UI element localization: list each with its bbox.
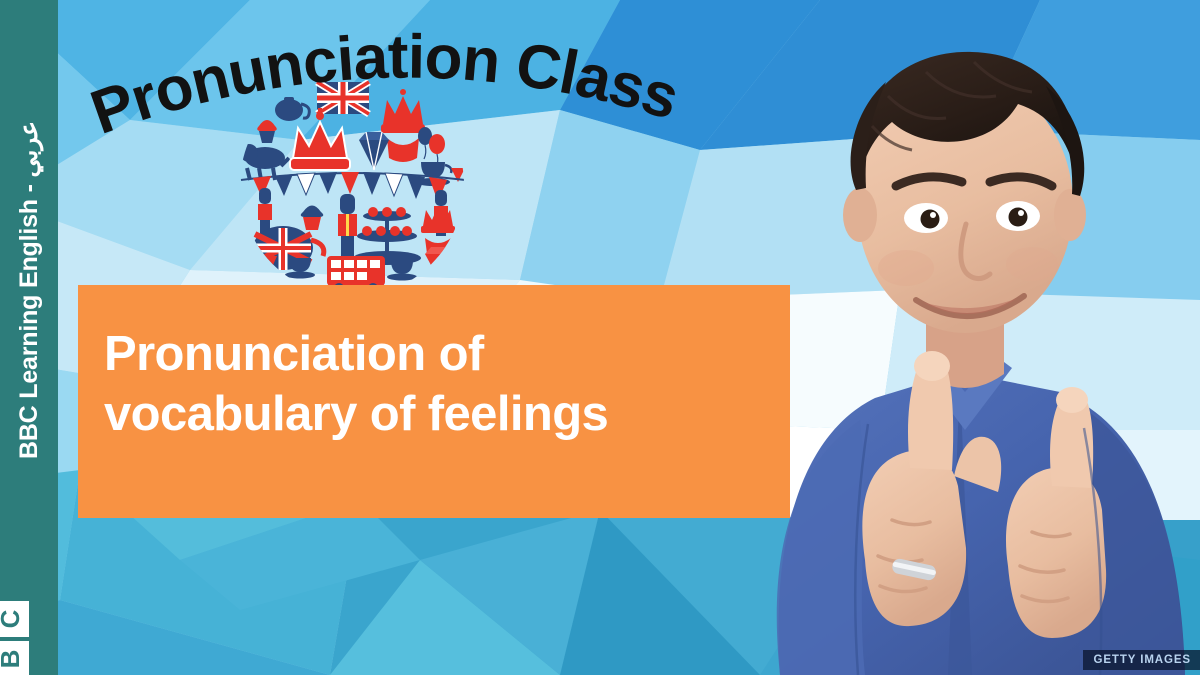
bbc-letter-c: C [0,601,29,637]
curved-title-svg: Pronunciation Class [64,14,704,164]
sidebar-brand-label: BBC Learning English - عربي [14,18,44,658]
bbc-letter-b2: B [0,641,29,675]
curved-title-text: Pronunciation Class [82,23,685,148]
presenter-illustration [660,0,1200,675]
page-title: Pronunciation Class [64,14,704,164]
bbc-logo: B B C [0,601,29,675]
getty-watermark: GETTY IMAGES [1083,650,1200,670]
presenter-photo [660,0,1200,675]
video-thumbnail: BBC Learning English - عربي B B C Pronun… [0,0,1200,675]
bbc-sidebar: BBC Learning English - عربي B B C [0,0,58,675]
